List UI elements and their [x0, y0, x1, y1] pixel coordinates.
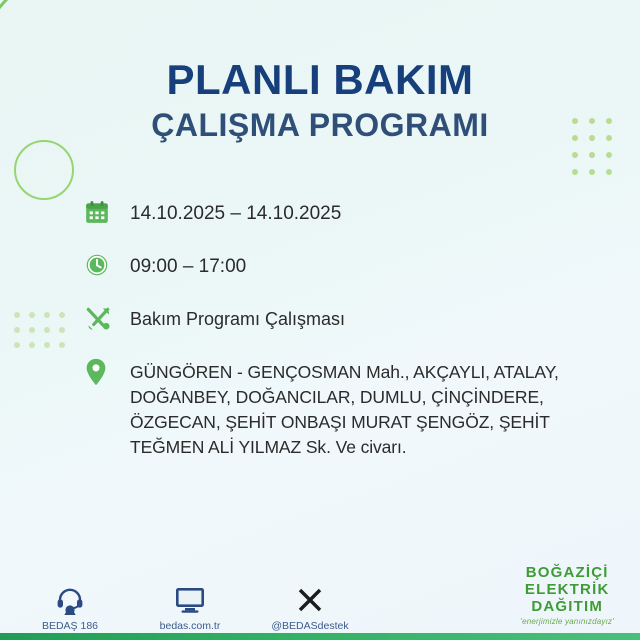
footer-item-social-label: @BEDASdestek	[264, 620, 356, 632]
brand-line-2: ELEKTRİK	[520, 582, 614, 597]
x-social-icon	[264, 584, 356, 616]
info-row-time: 09:00 – 17:00	[84, 251, 614, 286]
brand-logo: BOĞAZİÇİ ELEKTRİK DAĞITIM 'enerjimizle y…	[520, 565, 614, 626]
brand-slogan: 'enerjimizle yanınızdayız'	[520, 618, 614, 626]
info-row-location-text: GÜNGÖREN - GENÇOSMAN Mah., AKÇAYLI, ATAL…	[130, 357, 614, 459]
calendar-icon	[84, 198, 130, 233]
footer-contact-list: BEDAŞ 186 bedas.com.tr	[24, 584, 356, 632]
circle-outline-decoration	[14, 140, 74, 200]
info-row-time-text: 09:00 – 17:00	[130, 251, 246, 281]
poster-title-block: PLANLI BAKIM ÇALIŞMA PROGRAMI	[0, 58, 640, 143]
info-list: 14.10.2025 – 14.10.2025 09:00 – 17:00	[84, 198, 614, 477]
footer-item-call-center[interactable]: BEDAŞ 186	[24, 584, 116, 632]
monitor-icon	[144, 584, 236, 616]
footer-item-call-center-label: BEDAŞ 186	[24, 620, 116, 632]
clock-icon	[84, 251, 130, 286]
headset-icon	[24, 584, 116, 616]
info-row-location: GÜNGÖREN - GENÇOSMAN Mah., AKÇAYLI, ATAL…	[84, 357, 614, 459]
info-row-work: Bakım Programı Çalışması	[84, 304, 614, 339]
location-pin-icon	[84, 357, 130, 392]
info-row-work-text: Bakım Programı Çalışması	[130, 304, 345, 333]
footer-item-social[interactable]: @BEDASdestek	[264, 584, 356, 632]
brand-line-3: DAĞITIM	[520, 599, 614, 614]
info-row-date-text: 14.10.2025 – 14.10.2025	[130, 198, 341, 228]
dot-grid-decoration-left	[14, 312, 65, 348]
page-title: PLANLI BAKIM	[0, 58, 640, 102]
footer: BEDAŞ 186 bedas.com.tr	[0, 554, 640, 640]
poster-container: PLANLI BAKIM ÇALIŞMA PROGRAMI	[0, 0, 640, 640]
info-row-date: 14.10.2025 – 14.10.2025	[84, 198, 614, 233]
tools-icon	[84, 304, 130, 339]
footer-item-website-label: bedas.com.tr	[144, 620, 236, 632]
page-subtitle: ÇALIŞMA PROGRAMI	[0, 108, 640, 143]
footer-item-website[interactable]: bedas.com.tr	[144, 584, 236, 632]
bottom-gradient-bar	[0, 633, 640, 640]
brand-line-1: BOĞAZİÇİ	[520, 565, 614, 580]
